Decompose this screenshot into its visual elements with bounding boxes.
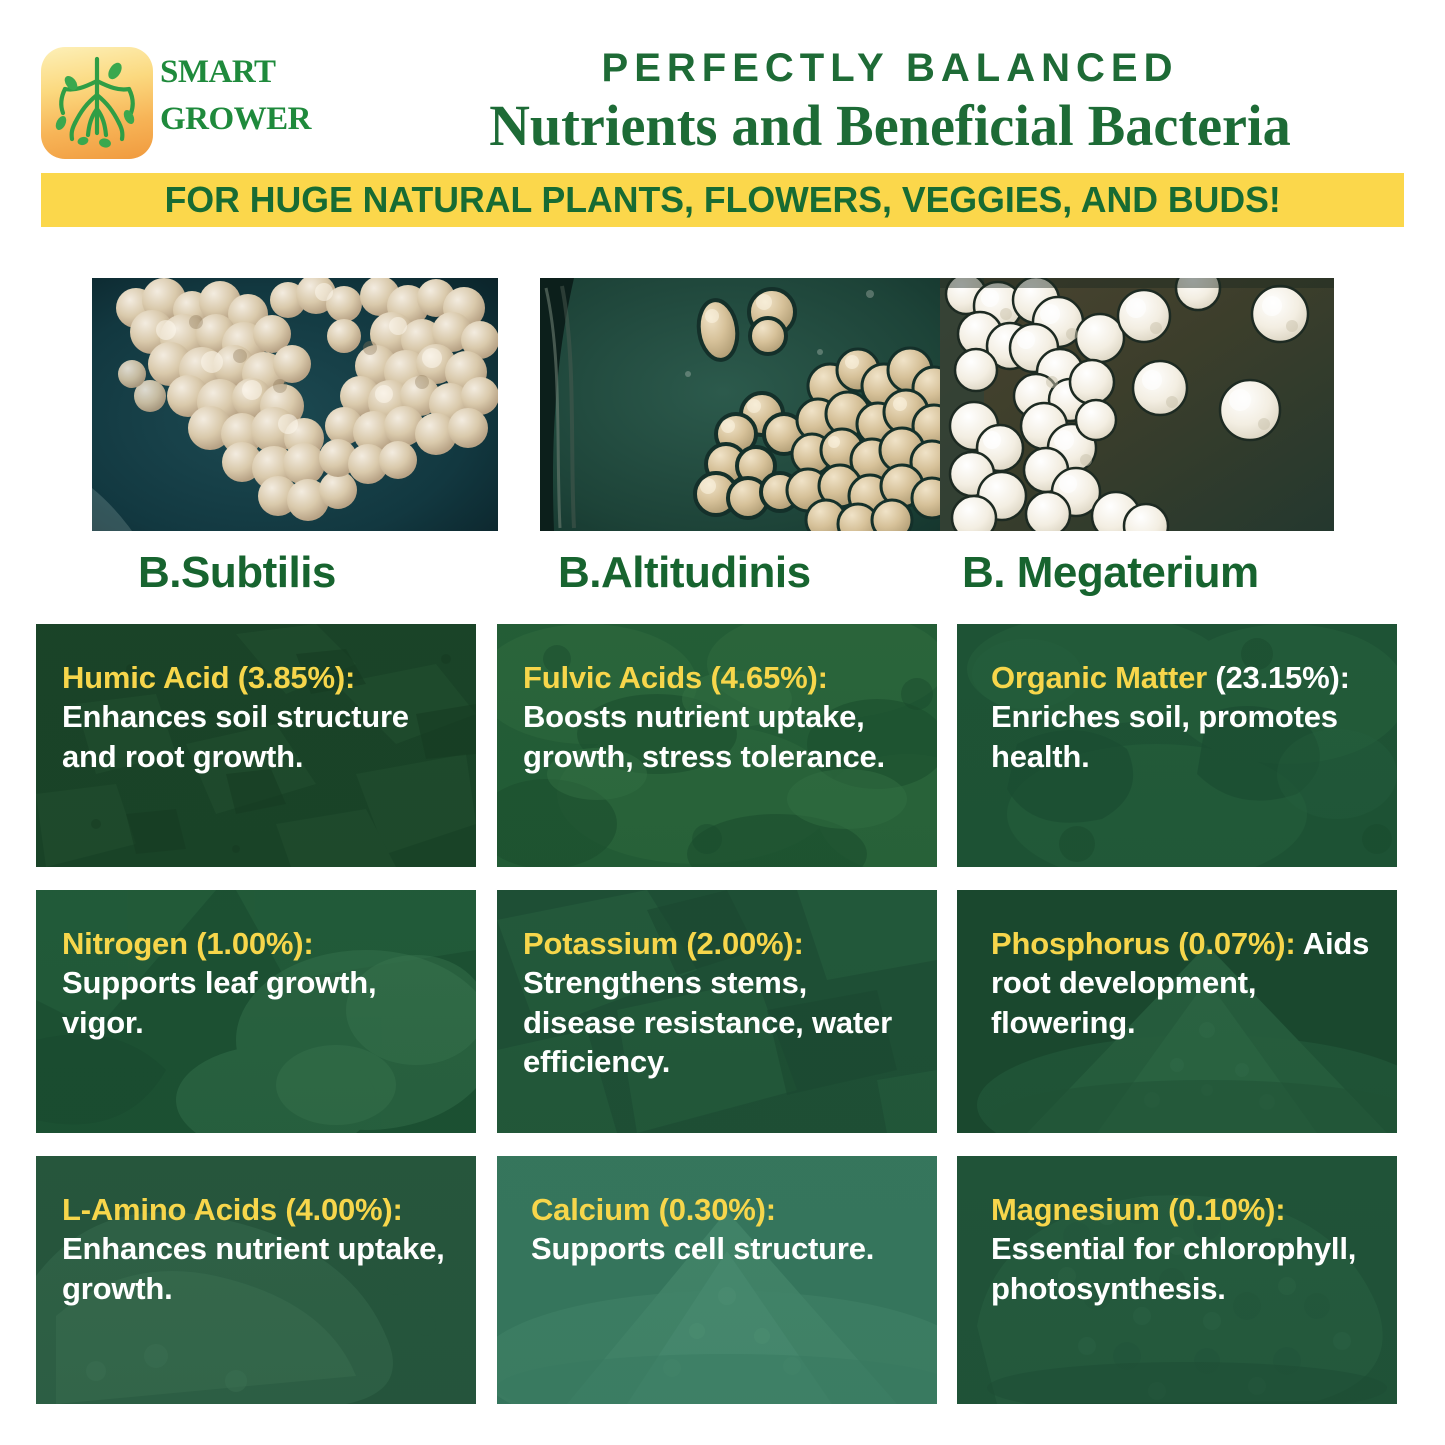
nutrient-card-l-amino-acids: L-Amino Acids (4.00%): Enhances nutrient…: [36, 1156, 476, 1404]
card-body: Supports cell structure.: [531, 1231, 874, 1266]
card-body: Boosts nutrient uptake, growth, stress t…: [523, 699, 885, 773]
brand-wordmark: Smart Grower: [160, 44, 370, 162]
card-text: Humic Acid (3.85%): Enhances soil struct…: [36, 624, 476, 786]
card-highlight: Potassium (2.00%):: [523, 926, 804, 961]
species-name-altitudinis: B.Altitudinis: [558, 548, 811, 600]
card-text: Organic Matter (23.15%): Enriches soil, …: [957, 624, 1397, 786]
card-highlight: Organic Matter: [991, 660, 1207, 695]
promo-banner: FOR HUGE NATURAL PLANTS, FLOWERS, VEGGIE…: [41, 173, 1404, 227]
species-name-megaterium: B. Megaterium: [962, 548, 1259, 600]
card-text: L-Amino Acids (4.00%): Enhances nutrient…: [36, 1156, 476, 1318]
promo-banner-text: FOR HUGE NATURAL PLANTS, FLOWERS, VEGGIE…: [164, 179, 1280, 221]
bacteria-photo-altitudinis: [540, 278, 946, 531]
card-highlight: Magnesium (0.10%):: [991, 1192, 1285, 1227]
nutrient-card-humic-acid: Humic Acid (3.85%): Enhances soil struct…: [36, 624, 476, 867]
card-highlight: Phosphorus (0.07%):: [991, 926, 1296, 961]
nutrient-card-nitrogen: Nitrogen (1.00%): Supports leaf growth, …: [36, 890, 476, 1133]
species-name-subtilis: B.Subtilis: [138, 548, 336, 600]
bacteria-photo-subtilis: [92, 278, 498, 531]
card-text: Fulvic Acids (4.65%): Boosts nutrient up…: [497, 624, 937, 786]
card-highlight: L-Amino Acids (4.00%):: [62, 1192, 403, 1227]
card-highlight: Nitrogen (1.00%):: [62, 926, 314, 961]
nutrient-card-calcium: Calcium (0.30%): Supports cell structure…: [497, 1156, 937, 1404]
page-title: Nutrients and Beneficial Bacteria: [386, 92, 1395, 159]
bacteria-photo-row: [0, 278, 1445, 533]
card-body: Enhances soil structure and root growth.: [62, 699, 409, 773]
nutrient-card-fulvic-acids: Fulvic Acids (4.65%): Boosts nutrient up…: [497, 624, 937, 867]
card-body: Enhances nutrient uptake, growth.: [62, 1231, 445, 1305]
card-body: Strengthens stems, disease resistance, w…: [523, 965, 892, 1079]
brand-name-line2: Grower: [160, 93, 370, 136]
bacteria-photo-megaterium: [940, 278, 1334, 531]
card-text: Potassium (2.00%): Strengthens stems, di…: [497, 890, 937, 1091]
plant-roots-icon: [41, 47, 153, 159]
card-text: Nitrogen (1.00%): Supports leaf growth, …: [36, 890, 476, 1052]
card-body: Supports leaf growth, vigor.: [62, 965, 376, 1039]
brand-name-line1: Smart: [160, 46, 370, 89]
card-highlight: Calcium (0.30%):: [531, 1192, 776, 1227]
header-kicker: PERFECTLY BALANCED: [370, 46, 1410, 91]
nutrient-card-organic-matter: Organic Matter (23.15%): Enriches soil, …: [957, 624, 1397, 867]
card-body: Essential for chlorophyll, photosynthesi…: [991, 1231, 1356, 1305]
card-highlight: Fulvic Acids (4.65%):: [523, 660, 828, 695]
page-header: Smart Grower PERFECTLY BALANCED Nutrient…: [0, 0, 1445, 172]
card-text: Calcium (0.30%): Supports cell structure…: [497, 1156, 937, 1279]
species-name-row: B.Subtilis B.Altitudinis B. Megaterium: [0, 548, 1445, 608]
card-text: Phosphorus (0.07%): Aids root developmen…: [957, 890, 1397, 1052]
card-highlight: Humic Acid (3.85%):: [62, 660, 355, 695]
nutrient-card-potassium: Potassium (2.00%): Strengthens stems, di…: [497, 890, 937, 1133]
nutrient-card-phosphorus: Phosphorus (0.07%): Aids root developmen…: [957, 890, 1397, 1133]
card-text: Magnesium (0.10%): Essential for chlorop…: [957, 1156, 1397, 1318]
nutrient-card-magnesium: Magnesium (0.10%): Essential for chlorop…: [957, 1156, 1397, 1404]
